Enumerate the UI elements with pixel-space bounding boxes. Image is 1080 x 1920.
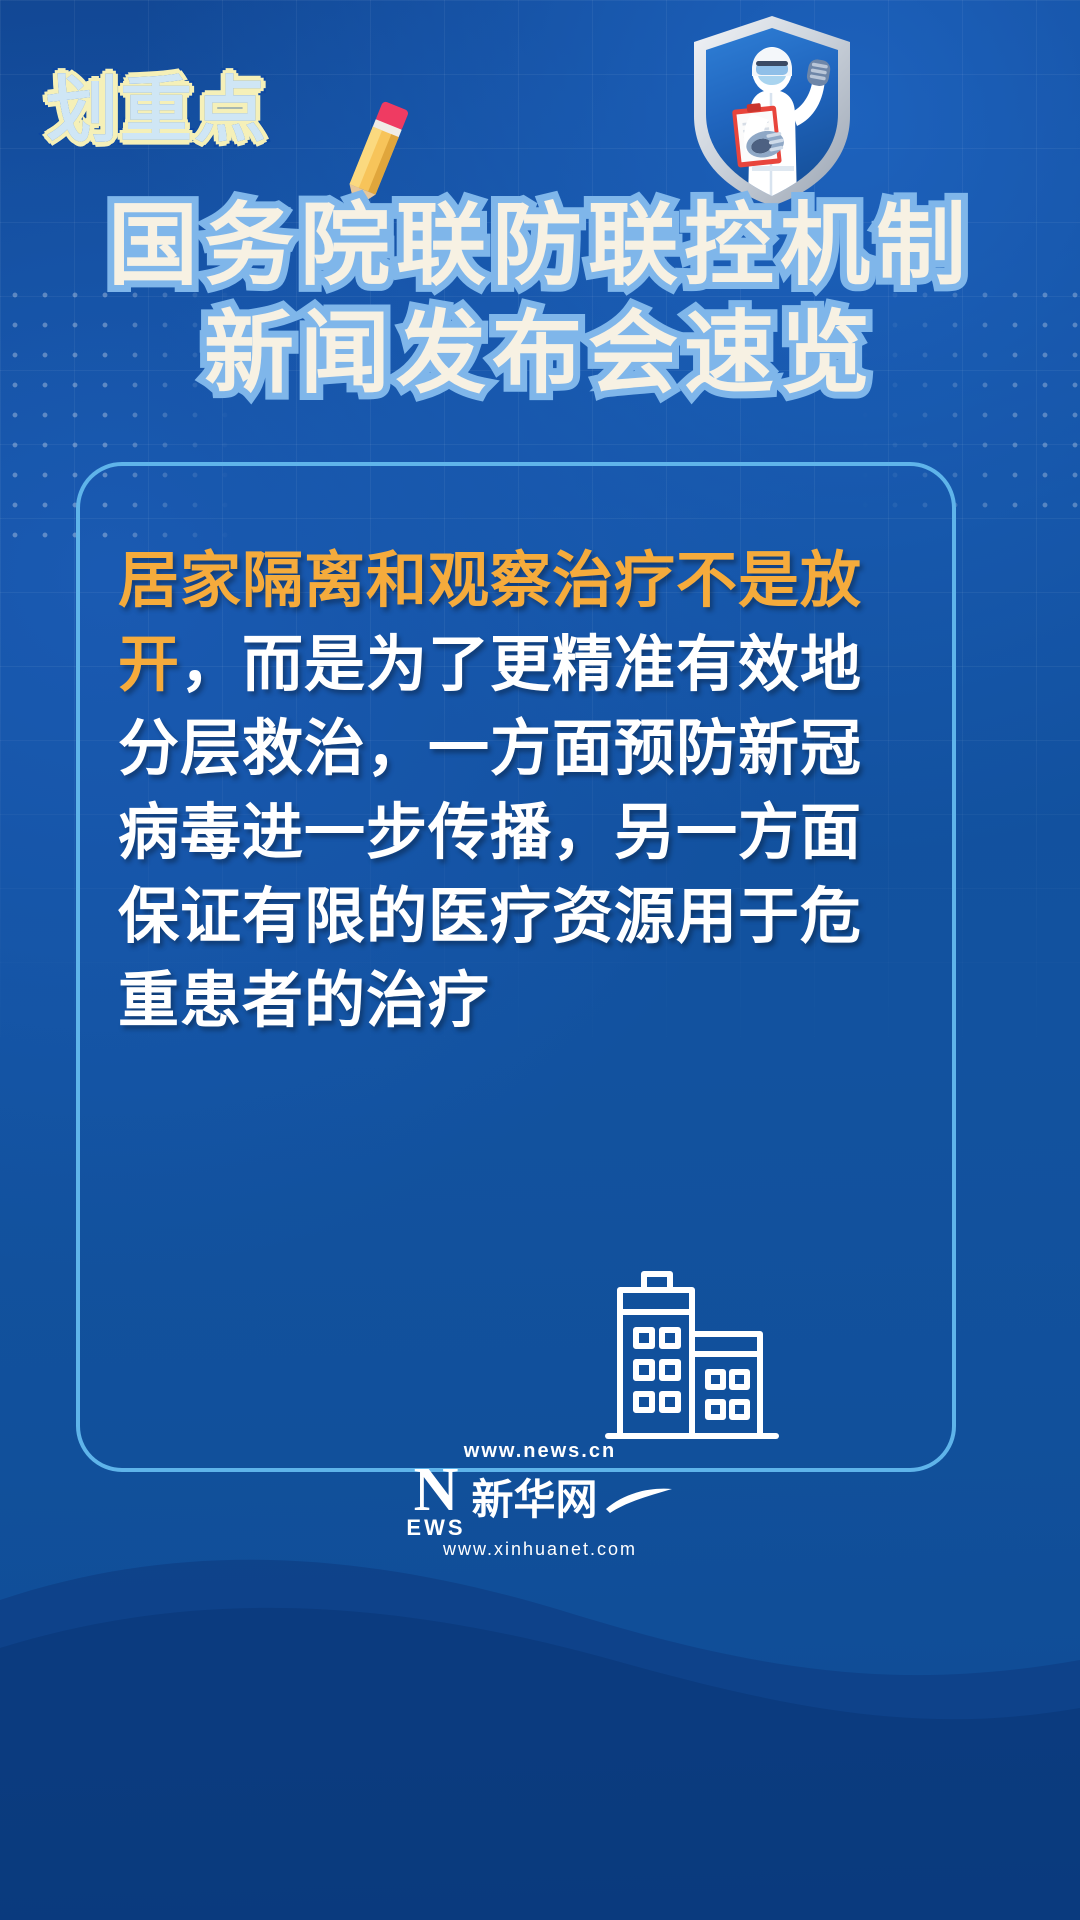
xinhua-logo: N EWS 新华网 bbox=[0, 1467, 1080, 1533]
body-highlight: 开 bbox=[118, 630, 180, 698]
body-line: 保证有限的医疗资源用于危 bbox=[118, 874, 918, 958]
body-line: 重患者的治疗 bbox=[118, 958, 918, 1042]
xinhua-logo-name: 新华网 bbox=[472, 1479, 598, 1521]
title-line-2: 新闻发布会速览 bbox=[0, 300, 1080, 408]
building-icon bbox=[600, 1250, 790, 1440]
highlight-badge-label: 划重点 bbox=[46, 56, 366, 166]
xinhua-logo-letter: N bbox=[414, 1459, 459, 1521]
content-body: 居家隔离和观察治疗不是放 开，而是为了更精准有效地 分层救治，一方面预防新冠 病… bbox=[118, 538, 918, 1042]
body-line: 分层救治，一方面预防新冠 bbox=[118, 706, 918, 790]
xinhua-logo-word: EWS bbox=[406, 1515, 465, 1541]
body-line: 开，而是为了更精准有效地 bbox=[118, 622, 918, 706]
footer-url-top: www.news.cn bbox=[0, 1440, 1080, 1463]
body-line: 病毒进一步传播，另一方面 bbox=[118, 790, 918, 874]
body-normal: 重患者的治疗 bbox=[118, 966, 490, 1034]
body-normal: 病毒进一步传播，另一方面 bbox=[118, 798, 862, 866]
shield-medical-worker-icon bbox=[672, 6, 872, 206]
xinhua-swoosh-icon bbox=[604, 1483, 674, 1517]
xinhua-logo-mark: N EWS bbox=[406, 1459, 465, 1541]
title-line-1: 国务院联防联控机制 bbox=[0, 192, 1080, 300]
body-normal: 分层救治，一方面预防新冠 bbox=[118, 714, 862, 782]
highlight-badge: 划重点 bbox=[46, 56, 366, 166]
body-normal: ，而是为了更精准有效地 bbox=[180, 630, 862, 698]
footer-url-bottom: www.xinhuanet.com bbox=[0, 1539, 1080, 1560]
body-normal: 保证有限的医疗资源用于危 bbox=[118, 882, 862, 950]
footer-logo: www.news.cn N EWS 新华网 www.xinhuanet.com bbox=[0, 1440, 1080, 1560]
poster-title: 国务院联防联控机制 新闻发布会速览 bbox=[0, 192, 1080, 408]
body-line: 居家隔离和观察治疗不是放 bbox=[118, 538, 918, 622]
body-highlight: 居家隔离和观察治疗不是放 bbox=[118, 546, 862, 614]
